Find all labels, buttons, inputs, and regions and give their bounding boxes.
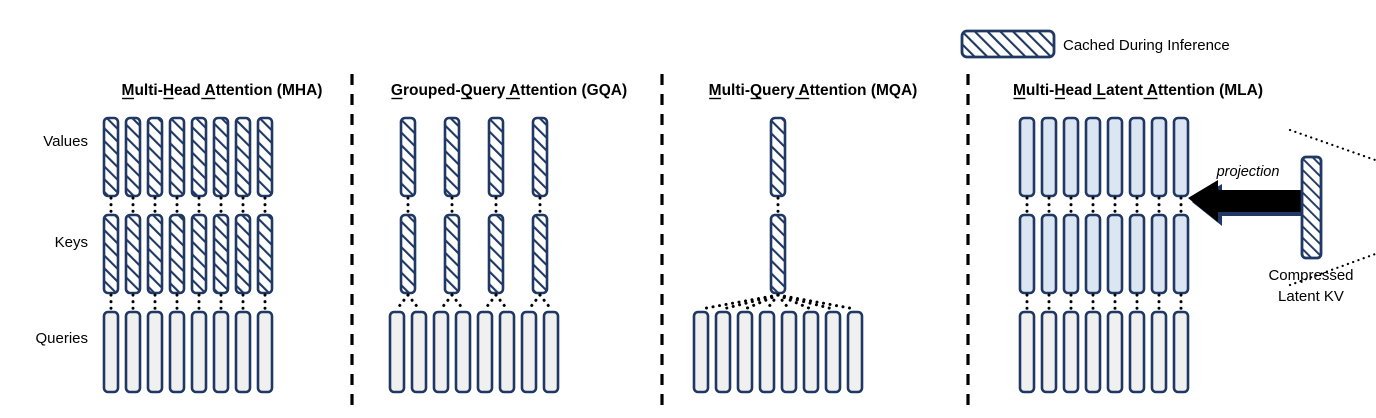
gqa-query-bar-1	[390, 312, 404, 392]
mla-key-bar-4	[1086, 215, 1100, 293]
gqa-queries-row	[390, 312, 558, 392]
mqa-query-bar-4	[760, 312, 774, 392]
diagram-canvas: Cached During Inference Values Keys Quer…	[0, 0, 1376, 418]
gqa-qk-connector-6	[496, 295, 507, 309]
mha-query-bar-7	[236, 312, 250, 392]
gqa-query-key-connectors	[397, 295, 551, 309]
gqa-qk-connector-8	[540, 295, 551, 309]
mqa-values-row	[771, 118, 785, 196]
mla-value-bar-6	[1130, 118, 1144, 196]
mla-key-bar-8	[1174, 215, 1188, 293]
mha-key-bar-5	[192, 215, 206, 293]
mha-value-bar-6	[214, 118, 228, 196]
panel-title-mqa: Multi-Query Attention (MQA)	[709, 82, 918, 99]
mla-value-bar-2	[1042, 118, 1056, 196]
latent-label-line2: Latent KV	[1278, 288, 1344, 305]
mha-queries-row	[104, 312, 272, 392]
mqa-value-bar-1	[771, 118, 785, 196]
legend-swatch-hatched	[962, 31, 1054, 57]
gqa-query-bar-4	[456, 312, 470, 392]
mha-key-bar-8	[258, 215, 272, 293]
mha-value-bar-4	[170, 118, 184, 196]
row-labels: Values Keys Queries	[35, 133, 88, 347]
gqa-query-bar-7	[522, 312, 536, 392]
gqa-qk-connector-2	[408, 295, 419, 309]
mla-value-bar-5	[1108, 118, 1122, 196]
gqa-values-row	[401, 118, 547, 196]
panel-mla	[1020, 118, 1188, 392]
mla-latent-annotation: projection Compressed Latent KV	[1188, 130, 1376, 305]
mqa-query-key-connectors	[701, 295, 855, 309]
mha-query-key-connectors	[111, 295, 265, 309]
mha-value-bar-3	[148, 118, 162, 196]
mha-key-bar-2	[126, 215, 140, 293]
latent-label-line1: Compressed	[1268, 267, 1353, 284]
mha-query-bar-4	[170, 312, 184, 392]
mla-key-bar-1	[1020, 215, 1034, 293]
gqa-query-bar-8	[544, 312, 558, 392]
gqa-qk-connector-3	[441, 295, 452, 309]
gqa-value-bar-3	[489, 118, 503, 196]
mqa-query-bar-1	[694, 312, 708, 392]
mla-query-key-connectors	[1027, 295, 1181, 309]
mla-value-bar-8	[1174, 118, 1188, 196]
mha-key-bar-3	[148, 215, 162, 293]
gqa-value-bar-1	[401, 118, 415, 196]
mha-keys-row	[104, 215, 272, 293]
panel-title-mla: Multi-Head Latent Attention (MLA)	[1013, 82, 1263, 99]
gqa-value-bar-4	[533, 118, 547, 196]
mqa-key-bar-1	[771, 215, 785, 293]
legend-label-cached: Cached During Inference	[1063, 37, 1230, 54]
projection-arrow-label: projection	[1216, 164, 1280, 180]
gqa-value-bar-2	[445, 118, 459, 196]
mha-query-bar-1	[104, 312, 118, 392]
panel-title-gqa: Grouped-Query Attention (GQA)	[391, 82, 627, 99]
mqa-qk-connector-6	[778, 295, 811, 309]
mqa-query-bar-3	[738, 312, 752, 392]
mha-query-bar-3	[148, 312, 162, 392]
mla-key-value-connectors	[1027, 198, 1181, 213]
gqa-qk-connector-5	[485, 295, 496, 309]
mla-query-bar-4	[1086, 312, 1100, 392]
compressed-latent-kv-bar	[1302, 157, 1321, 258]
gqa-query-bar-5	[478, 312, 492, 392]
mha-value-bar-5	[192, 118, 206, 196]
gqa-query-bar-3	[434, 312, 448, 392]
mha-value-bar-2	[126, 118, 140, 196]
panel-title-mha: Multi-Head Attention (MHA)	[122, 82, 323, 99]
panel-mqa	[694, 118, 862, 392]
gqa-qk-connector-1	[397, 295, 408, 309]
mla-key-bar-6	[1130, 215, 1144, 293]
mqa-query-bar-8	[848, 312, 862, 392]
mla-value-bar-3	[1064, 118, 1078, 196]
mla-query-bar-2	[1042, 312, 1056, 392]
mha-query-bar-2	[126, 312, 140, 392]
mla-query-bar-8	[1174, 312, 1188, 392]
panel-titles: Multi-Head Attention (MHA) Grouped-Query…	[122, 82, 1263, 99]
gqa-keys-row	[401, 215, 547, 293]
mha-key-bar-7	[236, 215, 250, 293]
mla-key-bar-7	[1152, 215, 1166, 293]
gqa-key-bar-1	[401, 215, 415, 293]
mha-key-bar-4	[170, 215, 184, 293]
mha-query-bar-8	[258, 312, 272, 392]
mqa-qk-connector-3	[745, 295, 778, 309]
mha-key-value-connectors	[111, 198, 265, 213]
mqa-query-bar-7	[826, 312, 840, 392]
mqa-query-bar-2	[716, 312, 730, 392]
mla-key-bar-5	[1108, 215, 1122, 293]
mha-value-bar-7	[236, 118, 250, 196]
mqa-qk-connector-8	[778, 295, 855, 309]
mha-query-bar-6	[214, 312, 228, 392]
mla-value-bar-1	[1020, 118, 1034, 196]
mla-value-bar-4	[1086, 118, 1100, 196]
gqa-query-bar-6	[500, 312, 514, 392]
mha-value-bar-8	[258, 118, 272, 196]
mha-key-bar-1	[104, 215, 118, 293]
gqa-query-bar-2	[412, 312, 426, 392]
leader-line-top	[1290, 130, 1376, 161]
gqa-qk-connector-4	[452, 295, 463, 309]
mla-query-bar-7	[1152, 312, 1166, 392]
row-label-keys: Keys	[55, 234, 88, 251]
mla-keys-row	[1020, 215, 1188, 293]
mla-query-bar-6	[1130, 312, 1144, 392]
legend: Cached During Inference	[962, 31, 1230, 57]
gqa-key-value-connectors	[408, 198, 540, 213]
mha-value-bar-1	[104, 118, 118, 196]
mla-query-bar-1	[1020, 312, 1034, 392]
mha-values-row	[104, 118, 272, 196]
mqa-query-bar-6	[804, 312, 818, 392]
panel-mha	[104, 118, 272, 392]
mla-value-bar-7	[1152, 118, 1166, 196]
mha-key-bar-6	[214, 215, 228, 293]
mla-values-row	[1020, 118, 1188, 196]
row-label-queries: Queries	[35, 330, 88, 347]
gqa-qk-connector-7	[529, 295, 540, 309]
mqa-keys-row	[771, 215, 785, 293]
mla-key-bar-2	[1042, 215, 1056, 293]
mla-query-bar-5	[1108, 312, 1122, 392]
gqa-key-bar-3	[489, 215, 503, 293]
gqa-key-bar-4	[533, 215, 547, 293]
mqa-qk-connector-1	[701, 295, 778, 309]
attention-variants-figure: Cached During Inference Values Keys Quer…	[0, 0, 1376, 418]
mla-queries-row	[1020, 312, 1188, 392]
row-label-values: Values	[43, 133, 88, 150]
gqa-key-bar-2	[445, 215, 459, 293]
panel-gqa	[390, 118, 558, 392]
mqa-query-bar-5	[782, 312, 796, 392]
mqa-queries-row	[694, 312, 862, 392]
mla-key-bar-3	[1064, 215, 1078, 293]
mla-query-bar-3	[1064, 312, 1078, 392]
mha-query-bar-5	[192, 312, 206, 392]
